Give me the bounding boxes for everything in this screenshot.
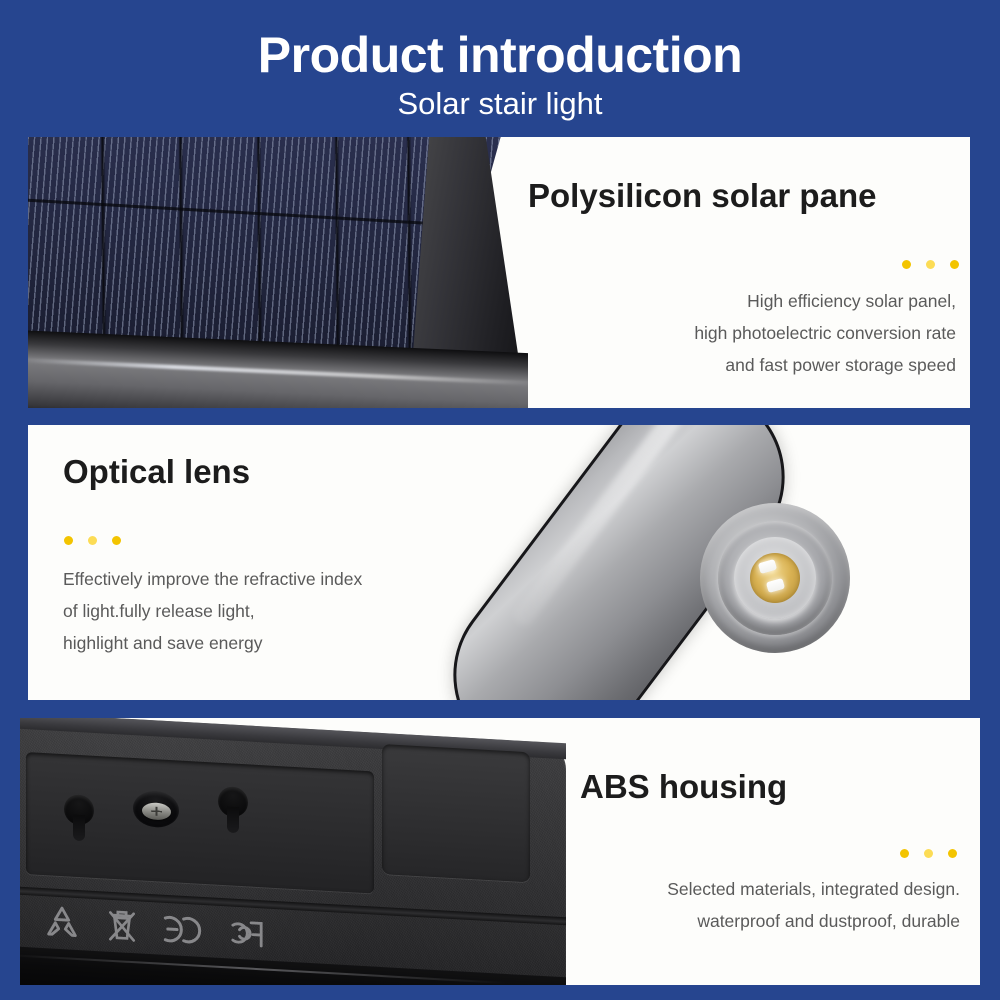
accent-dot [64, 536, 73, 545]
feature-card-optical-lens: Optical lens Effectively improve the ref… [28, 425, 970, 700]
accent-dot [926, 260, 935, 269]
accent-dot [950, 260, 959, 269]
page-title: Product introduction [0, 30, 1000, 80]
abs-housing-photo [20, 718, 580, 985]
feature-description: Selected materials, integrated design. w… [540, 873, 960, 937]
feature-heading: Polysilicon solar pane [528, 179, 876, 214]
accent-dots [64, 536, 121, 545]
accent-dots [902, 260, 959, 269]
accent-dots [900, 849, 957, 858]
ce-mark-symbol [162, 909, 202, 951]
keyhole-slot [73, 815, 85, 842]
description-line: waterproof and dustproof, durable [540, 905, 960, 937]
accent-dot [88, 536, 97, 545]
mounting-keyhole [218, 786, 248, 834]
description-line: Effectively improve the refractive index [63, 563, 483, 595]
feature-heading: ABS housing [580, 770, 787, 805]
header: Product introduction Solar stair light [0, 0, 1000, 137]
description-line: high photoelectric conversion rate [528, 317, 956, 349]
accent-dot [900, 849, 909, 858]
accent-dot [948, 849, 957, 858]
accent-dot [902, 260, 911, 269]
solar-panel-photo [28, 137, 528, 408]
keyhole-slot [227, 807, 239, 834]
description-line: highlight and save energy [63, 627, 483, 659]
feature-card-abs-housing: ABS housing Selected materials, integrat… [20, 718, 980, 985]
feature-heading: Optical lens [63, 455, 250, 490]
optical-lens-photo [410, 425, 970, 700]
solar-panel-clip [28, 137, 528, 408]
fcc-mark-symbol [222, 912, 272, 955]
feature-description: Effectively improve the refractive index… [63, 563, 483, 659]
feature-description: High efficiency solar panel, high photoe… [528, 285, 956, 381]
accent-dot [924, 849, 933, 858]
feature-card-polysilicon-solar-panel: Polysilicon solar pane High efficiency s… [28, 137, 970, 408]
weee-crossed-bin-symbol [102, 905, 142, 947]
accent-dot [112, 536, 121, 545]
mounting-keyhole [64, 794, 94, 842]
page-subtitle: Solar stair light [0, 88, 1000, 119]
recycle-symbol [42, 902, 82, 944]
description-line: Selected materials, integrated design. [540, 873, 960, 905]
led-chip [750, 553, 800, 603]
abs-battery-cover [382, 744, 530, 882]
description-line: High efficiency solar panel, [528, 285, 956, 317]
product-introduction-infographic: Product introduction Solar stair light P… [0, 0, 1000, 1000]
description-line: of light.fully release light, [63, 595, 483, 627]
description-line: and fast power storage speed [528, 349, 956, 381]
